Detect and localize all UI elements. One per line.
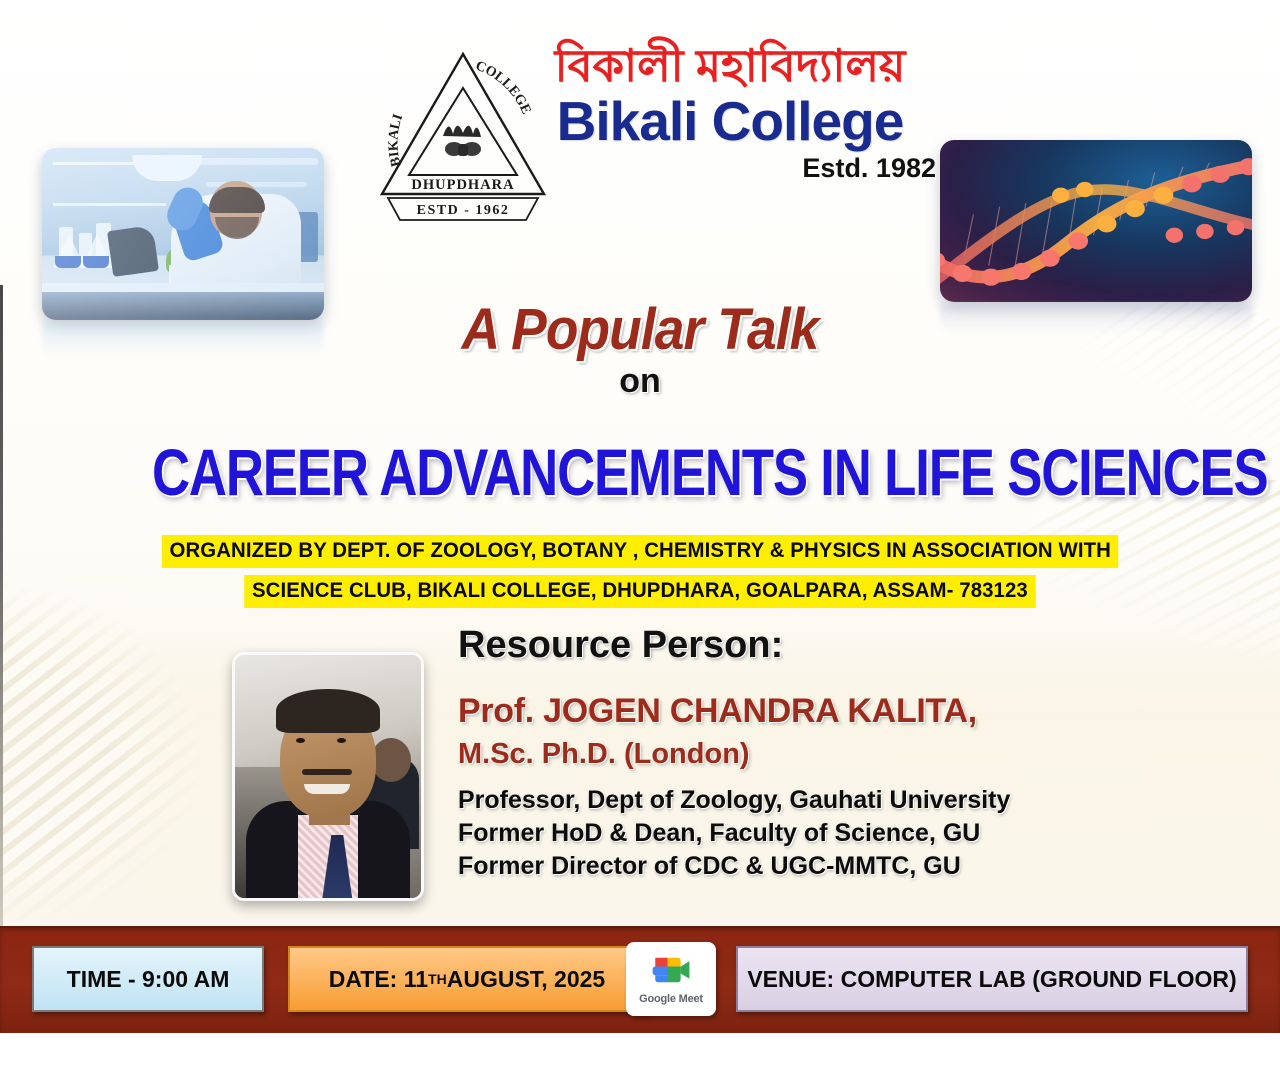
time-chip: TIME - 9:00 AM — [32, 946, 264, 1012]
date-prefix: DATE: 11 — [329, 966, 428, 993]
affiliation-line-3: Former Director of CDC & UGC-MMTC, GU — [458, 850, 1010, 883]
date-suffix: AUGUST, 2025 — [447, 966, 606, 993]
google-meet-badge[interactable]: Google Meet — [626, 942, 716, 1016]
title-connector: on — [0, 362, 1280, 401]
footer-info-bar: TIME - 9:00 AM DATE: 11TH AUGUST, 2025 G… — [0, 926, 1280, 1035]
college-name-english: Bikali College — [520, 93, 940, 149]
venue-chip: VENUE: COMPUTER LAB (GROUND FLOOR) — [736, 946, 1248, 1012]
college-name-block: বিকালী মহাবিদ্যালয় Bikali College Estd.… — [520, 42, 940, 184]
resource-person-degrees: M.Sc. Ph.D. (London) — [458, 738, 750, 771]
event-type-title: A Popular Talk — [51, 296, 1229, 363]
speaker-photo — [232, 652, 424, 901]
google-meet-label: Google Meet — [639, 993, 703, 1005]
time-label: TIME - 9:00 AM — [67, 966, 230, 993]
date-chip: DATE: 11TH AUGUST, 2025 — [288, 946, 646, 1012]
google-meet-icon — [650, 954, 692, 991]
talk-headline: CAREER ADVANCEMENTS IN LIFE SCIENCES AND… — [152, 434, 1128, 510]
resource-person-heading: Resource Person: — [458, 624, 783, 667]
organizer-block: ORGANIZED BY DEPT. OF ZOOLOGY, BOTANY , … — [0, 535, 1280, 615]
organizer-line-1: ORGANIZED BY DEPT. OF ZOOLOGY, BOTANY , … — [162, 535, 1119, 568]
svg-text:BIKALI: BIKALI — [386, 112, 406, 168]
affiliation-line-1: Professor, Dept of Zoology, Gauhati Univ… — [458, 784, 1010, 817]
laboratory-photo — [42, 148, 324, 320]
event-poster: BIKALI COLLEGE DHUPDHARA ESTD - 1962 বিক… — [0, 0, 1280, 1068]
resource-person-name: Prof. JOGEN CHANDRA KALITA, — [458, 692, 977, 731]
college-established: Estd. 1982 — [520, 153, 940, 184]
date-ordinal: TH — [428, 971, 447, 987]
organizer-line-2: SCIENCE CLUB, BIKALI COLLEGE, DHUPDHARA,… — [244, 575, 1035, 608]
college-name-bengali: বিকালী মহাবিদ্যালয় — [520, 42, 940, 89]
bottom-white-margin — [0, 1033, 1280, 1068]
decorative-left-stripes — [0, 585, 200, 925]
svg-text:DHUPDHARA: DHUPDHARA — [411, 177, 514, 193]
dna-helix-photo — [940, 140, 1252, 302]
affiliation-line-2: Former HoD & Dean, Faculty of Science, G… — [458, 817, 1010, 850]
resource-person-affiliation: Professor, Dept of Zoology, Gauhati Univ… — [458, 784, 1010, 883]
svg-text:ESTD - 1962: ESTD - 1962 — [417, 203, 510, 218]
venue-label: VENUE: COMPUTER LAB (GROUND FLOOR) — [747, 966, 1236, 993]
